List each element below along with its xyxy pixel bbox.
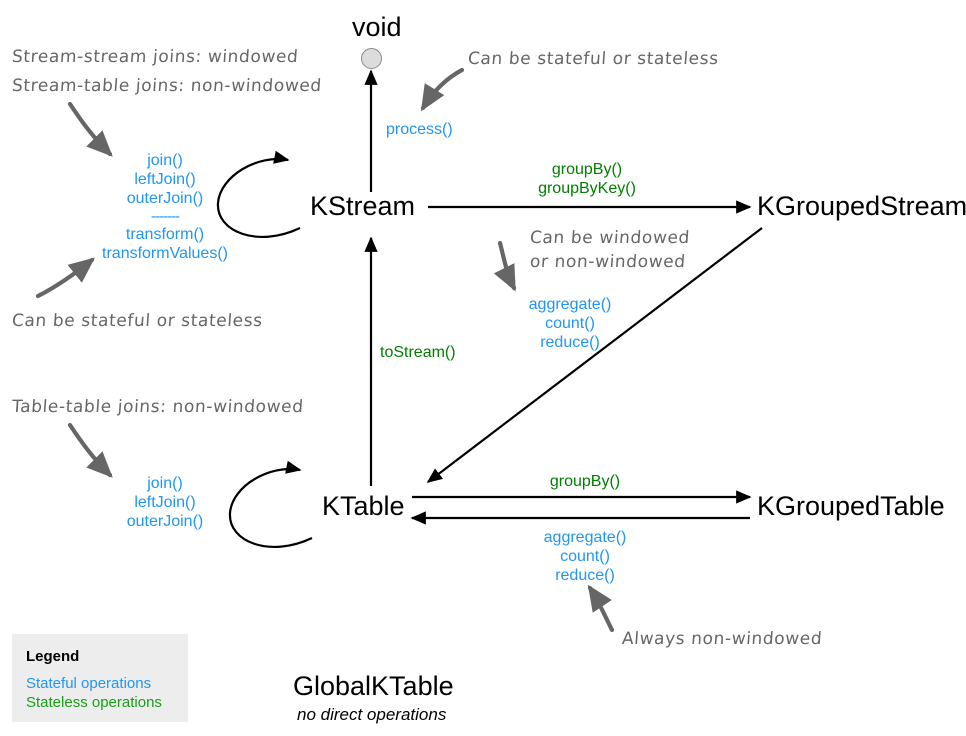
annotation-table-joins: Table-table joins: non-windowed [11, 394, 304, 420]
op-to-stream: toStream() [380, 343, 456, 362]
op-transform: transform() [126, 226, 204, 243]
op-group-by: groupBy() [552, 161, 622, 178]
node-kgroupedstream: KGroupedStream [757, 193, 966, 220]
op-group-by-key: groupByKey() [538, 180, 636, 197]
legend-row-stateful: Stateful operations [26, 674, 188, 693]
op-join-table: join() [147, 475, 183, 492]
annotation-arrow-stateful-top [423, 70, 462, 108]
op-separator: ------- [100, 208, 230, 225]
node-kgroupedtable: KGroupedTable [757, 493, 945, 520]
op-left-join-table: leftJoin() [134, 494, 195, 511]
op-group-by-table: groupBy() [506, 472, 664, 491]
op-reduce-stream: reduce() [540, 334, 600, 351]
op-left-join: leftJoin() [134, 171, 195, 188]
annotation-arrow-always-non-windowed [590, 588, 612, 630]
op-process: process() [386, 120, 453, 139]
op-aggregate-stream: aggregate() [529, 296, 612, 313]
annotation-stateful-or-stateless-top: Can be stateful or stateless [467, 46, 719, 72]
node-globalktable-subtitle: no direct operations [297, 706, 446, 723]
op-group-aggregations-stream: aggregate() count() reduce() [505, 295, 635, 352]
annotation-arrow-stream-joins [70, 104, 110, 154]
void-circle-icon [361, 48, 382, 69]
node-globalktable: GlobalKTable [293, 673, 454, 700]
op-reduce-table: reduce() [555, 567, 615, 584]
op-count-stream: count() [545, 315, 595, 332]
op-group-aggregations-table: aggregate() count() reduce() [520, 528, 650, 585]
op-outer-join-table: outerJoin() [127, 513, 203, 530]
annotation-stream-joins-line1: Stream-stream joins: windowed [11, 44, 299, 70]
op-join: join() [147, 152, 183, 169]
op-outer-join: outerJoin() [127, 190, 203, 207]
annotation-stream-joins-line2: Stream-table joins: non-windowed [11, 73, 323, 99]
op-count-table: count() [560, 548, 610, 565]
node-kstream: KStream [310, 193, 415, 220]
op-transform-values: transformValues() [102, 245, 228, 262]
op-group-ktable-joins: join() leftJoin() outerJoin() [100, 474, 230, 531]
annotation-windowed-line2: or non-windowed [529, 249, 686, 275]
op-group-kstream-joins: join() leftJoin() outerJoin() ------- tr… [100, 151, 230, 263]
annotation-always-non-windowed: Always non-windowed [621, 626, 823, 652]
annotation-arrow-stateful-left [38, 260, 92, 296]
node-void: void [352, 14, 402, 41]
edge-kstream-self-loop [218, 159, 300, 237]
node-ktable: KTable [322, 493, 405, 520]
annotation-windowed-line1: Can be windowed [529, 225, 691, 251]
edge-ktable-self-loop [230, 469, 312, 547]
legend-title: Legend [26, 648, 188, 665]
annotation-arrow-windowed [500, 243, 514, 288]
op-group-grouping-stream: groupBy() groupByKey() [508, 160, 666, 198]
op-aggregate-table: aggregate() [544, 529, 627, 546]
legend-box: Legend Stateful operations Stateless ope… [12, 634, 188, 722]
annotation-arrow-table-joins [70, 425, 110, 475]
diagram-canvas: void KStream KGroupedStream KTable KGrou… [0, 0, 966, 736]
annotation-stateful-or-stateless-left: Can be stateful or stateless [11, 308, 263, 334]
legend-row-stateless: Stateless operations [26, 693, 188, 712]
